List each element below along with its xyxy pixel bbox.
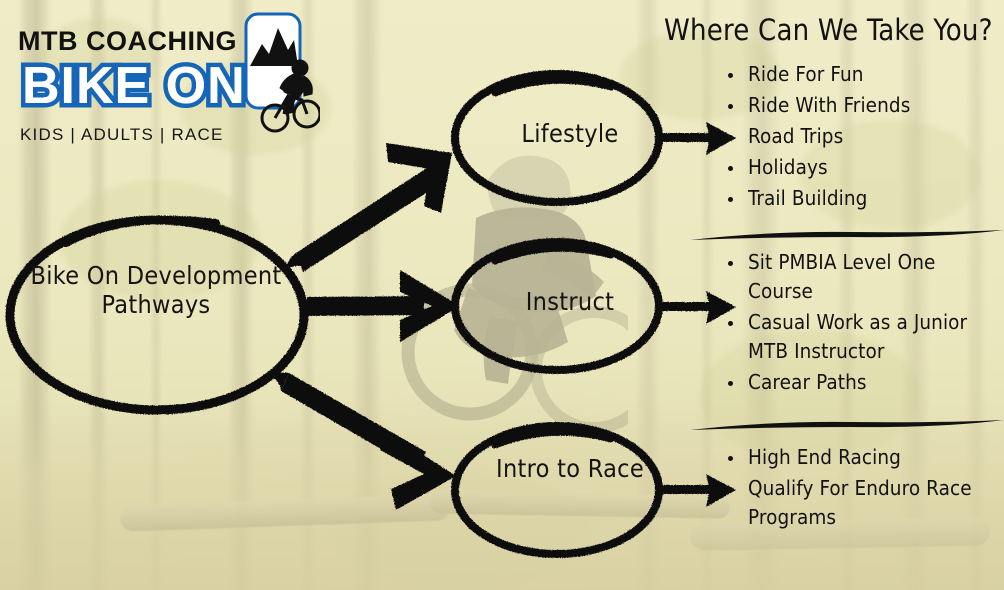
list-item: Road Trips <box>722 122 1004 151</box>
list-item: Trail Building <box>722 184 1004 213</box>
brush-divider-icon <box>690 418 1004 434</box>
outcome-group-lifestyle: Ride For Fun Ride With Friends Road Trip… <box>722 60 1004 216</box>
list-item: Ride With Friends <box>722 91 1004 120</box>
outcome-group-intro-to-race: High End Racing Qualify For Enduro Race … <box>722 443 1004 534</box>
brush-divider-icon <box>690 228 1004 244</box>
infographic-canvas: MTB COACHING BIKE ON BIKE ON KIDS | ADUL… <box>0 0 1004 590</box>
list-item: Casual Work as a Junior MTB Instructor <box>722 308 1004 366</box>
list-item: High End Racing <box>722 443 1004 472</box>
root-node-ellipse-overstroke <box>66 220 216 243</box>
brush-arrow-to-lifestyle <box>286 143 452 272</box>
outcomes-panel: Where Can We Take You? Ride For Fun Ride… <box>660 0 1004 590</box>
root-node-label: Bike On Development Pathways <box>18 262 294 320</box>
list-item: Carear Paths <box>722 368 1004 397</box>
list-item: Ride For Fun <box>722 60 1004 89</box>
list-item: Holidays <box>722 153 1004 182</box>
node-label-lifestyle: Lifestyle <box>470 120 670 149</box>
node-label-intro-to-race: Intro to Race <box>470 455 670 484</box>
outcome-group-instruct: Sit PMBIA Level One Course Casual Work a… <box>722 248 1004 400</box>
brush-arrow-to-intro-to-race <box>273 373 456 511</box>
list-item: Sit PMBIA Level One Course <box>722 248 1004 306</box>
node-ellipse-intro-to-race <box>455 426 659 554</box>
brush-arrow-to-instruct <box>307 270 460 342</box>
panel-title: Where Can We Take You? <box>664 13 984 47</box>
list-item: Qualify For Enduro Race Programs <box>722 474 1004 532</box>
node-label-instruct: Instruct <box>470 288 670 317</box>
